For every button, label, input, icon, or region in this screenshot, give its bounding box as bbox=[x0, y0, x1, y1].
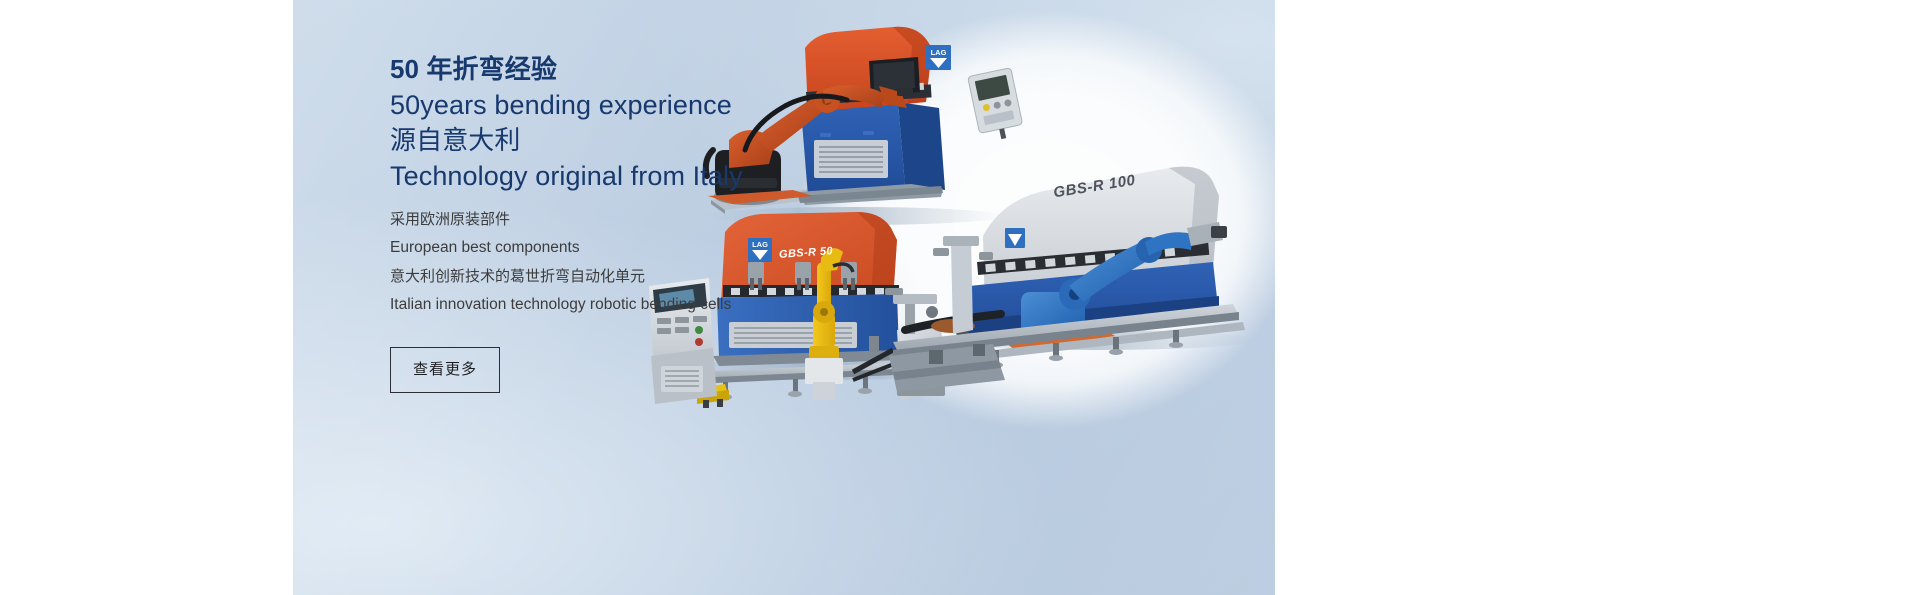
subheading-cn-2: 意大利创新技术的葛世折弯自动化单元 bbox=[390, 269, 810, 284]
headline-cn-2: 源自意大利 bbox=[390, 127, 810, 155]
headline-en-2: Technology original from Italy bbox=[390, 162, 810, 191]
white-halo-ellipse bbox=[798, 10, 1275, 430]
subheading-en-1: European best components bbox=[390, 240, 810, 256]
subheading-list: 采用欧洲原装部件 European best components 意大利创新技… bbox=[390, 212, 810, 312]
view-more-button[interactable]: 查看更多 bbox=[390, 347, 500, 393]
hero-banner: LAG bbox=[293, 0, 1275, 595]
hero-copy: 50 年折弯经验 50years bending experience 源自意大… bbox=[390, 56, 810, 393]
subheading-cn-1: 采用欧洲原装部件 bbox=[390, 212, 810, 227]
banner-stage: LAG bbox=[0, 0, 1920, 595]
subheading-en-2: Italian innovation technology robotic be… bbox=[390, 297, 810, 313]
headline-en-1: 50years bending experience bbox=[390, 91, 810, 120]
headline-cn-1: 50 年折弯经验 bbox=[390, 56, 810, 84]
